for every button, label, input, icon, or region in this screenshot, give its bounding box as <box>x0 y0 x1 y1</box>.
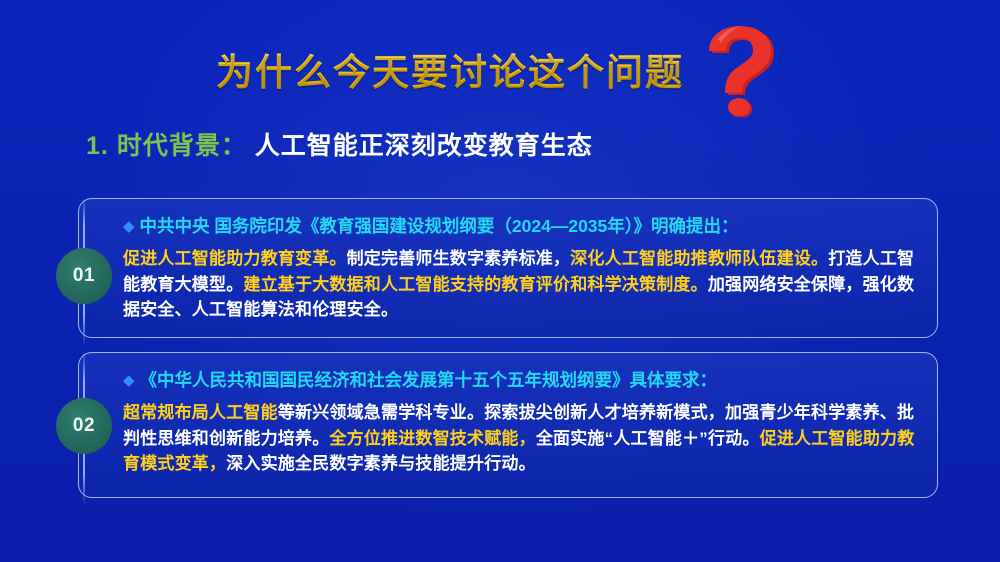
text-run-4: 建立基于大数据和人工智能支持的教育评价和科学决策制度。 <box>243 275 707 294</box>
section-subtitle: 1. 时代背景： 人工智能正深刻改变教育生态 <box>86 126 593 162</box>
step-badge-02-label: 02 <box>73 415 95 437</box>
card-1-heading-text: 中共中央 国务院印发《教育强国建设规划纲要（2024—2035年）》明确提出： <box>140 216 739 236</box>
content-card-2: ◆《中华人民共和国国民经济和社会发展第十五个五年规划纲要》具体要求： 超常规布局… <box>78 352 938 498</box>
diamond-bullet-icon: ◆ <box>123 372 135 389</box>
text-run-2: 全方位推进数智技术赋能， <box>329 429 535 448</box>
text-run-0: 促进人工智能助力教育变革。 <box>123 249 347 268</box>
text-run-3: 全面实施“人工智能＋”行动。 <box>536 429 760 448</box>
question-mark-icon <box>698 25 784 117</box>
text-run-2: 深化人工智能助推教师队伍建设。 <box>570 249 828 268</box>
step-badge-02: 02 <box>56 398 112 454</box>
content-card-1: ◆中共中央 国务院印发《教育强国建设规划纲要（2024—2035年）》明确提出：… <box>78 198 938 338</box>
step-badge-01-label: 01 <box>73 265 95 287</box>
section-number: 1. <box>86 132 109 160</box>
card-2-heading-text: 《中华人民共和国国民经济和社会发展第十五个五年规划纲要》具体要求： <box>140 370 718 390</box>
diamond-bullet-icon: ◆ <box>123 218 135 235</box>
section-label-white: 人工智能正深刻改变教育生态 <box>255 132 593 160</box>
card-2-body: 超常规布局人工智能等新兴领域急需学科专业。探索拔尖创新人才培养新模式，加强青少年… <box>123 400 917 477</box>
title-row: 为什么今天要讨论这个问题 <box>0 24 1000 114</box>
card-2-heading: ◆《中华人民共和国国民经济和社会发展第十五个五年规划纲要》具体要求： <box>123 367 917 394</box>
slide-root: 为什么今天要讨论这个问题 1. 时代背景： 人工智能正深刻改变教育生态 ◆中共中… <box>0 0 1000 562</box>
card-1-heading: ◆中共中央 国务院印发《教育强国建设规划纲要（2024—2035年）》明确提出： <box>123 213 917 240</box>
page-title: 为什么今天要讨论这个问题 <box>216 42 684 96</box>
step-badge-01: 01 <box>56 248 112 304</box>
text-run-1: 制定完善师生数字素养标准， <box>347 249 571 268</box>
text-run-5: 深入实施全民数字素养与技能提升行动。 <box>226 454 536 473</box>
section-label-green: 时代背景： <box>117 132 247 160</box>
text-run-0: 超常规布局人工智能 <box>123 403 278 422</box>
card-1-body: 促进人工智能助力教育变革。制定完善师生数字素养标准，深化人工智能助推教师队伍建设… <box>123 246 917 323</box>
